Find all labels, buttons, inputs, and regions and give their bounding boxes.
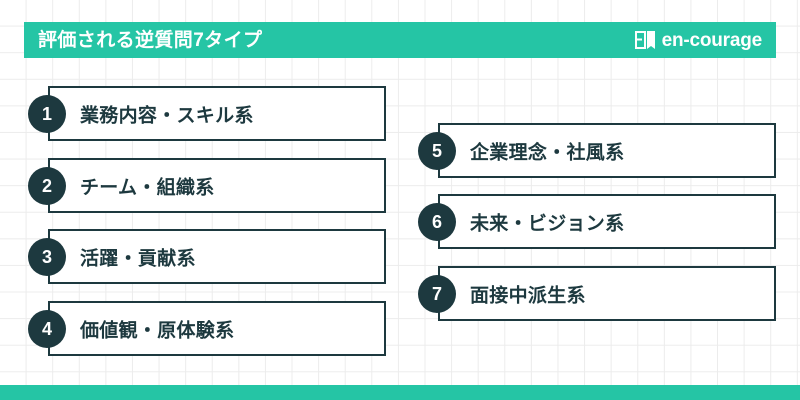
list-item: 6 未来・ビジョン系 xyxy=(438,194,776,249)
list-item: 3 活躍・貢献系 xyxy=(48,229,386,284)
item-label: 業務内容・スキル系 xyxy=(80,100,254,127)
item-label: 面接中派生系 xyxy=(470,280,586,307)
item-label: 価値観・原体験系 xyxy=(80,315,234,342)
book-logo-icon xyxy=(635,30,657,50)
item-number-badge: 3 xyxy=(28,238,66,276)
header-bar: 評価される逆質問7タイプ en-courage xyxy=(24,22,776,58)
footer-accent-bar xyxy=(0,385,800,400)
item-number-badge: 5 xyxy=(418,132,456,170)
item-number-badge: 6 xyxy=(418,203,456,241)
infographic-canvas: 評価される逆質問7タイプ en-courage 1 業務内容・スキル系 2 チー… xyxy=(0,0,800,400)
item-number-badge: 4 xyxy=(28,310,66,348)
item-label: 未来・ビジョン系 xyxy=(470,208,624,235)
list-item: 1 業務内容・スキル系 xyxy=(48,86,386,141)
item-label: チーム・組織系 xyxy=(80,172,215,199)
list-item: 2 チーム・組織系 xyxy=(48,158,386,213)
item-number-badge: 1 xyxy=(28,95,66,133)
list-item: 4 価値観・原体験系 xyxy=(48,301,386,356)
item-number-badge: 2 xyxy=(28,167,66,205)
item-number-badge: 7 xyxy=(418,275,456,313)
item-label: 活躍・貢献系 xyxy=(80,243,196,270)
item-label: 企業理念・社風系 xyxy=(470,137,624,164)
list-item: 7 面接中派生系 xyxy=(438,266,776,321)
brand-logo: en-courage xyxy=(635,30,764,50)
list-item: 5 企業理念・社風系 xyxy=(438,123,776,178)
brand-name: en-courage xyxy=(662,31,762,50)
page-title: 評価される逆質問7タイプ xyxy=(38,31,262,50)
